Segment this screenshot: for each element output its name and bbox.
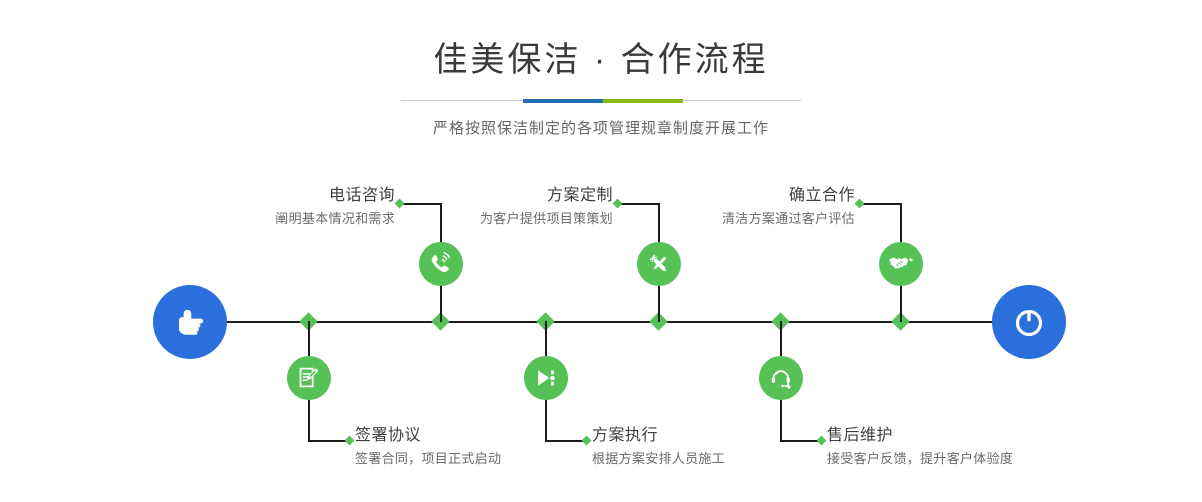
- handshake-icon: [888, 251, 914, 277]
- step-label: 电话咨询 阐明基本情况和需求: [155, 186, 395, 229]
- pencil-plan-icon: [646, 251, 672, 277]
- step-title: 售后维护: [827, 426, 1107, 446]
- step-icon-badge[interactable]: [524, 356, 568, 400]
- power-icon: [1009, 302, 1049, 342]
- connector-bullet: [855, 199, 865, 209]
- page-title: 佳美保洁 · 合作流程: [0, 40, 1202, 81]
- step-icon-badge[interactable]: [759, 356, 803, 400]
- document-sign-icon: [296, 365, 322, 391]
- step-label: 方案执行 根据方案安排人员施工: [592, 426, 852, 469]
- step-desc: 为客户提供项目策策划: [373, 209, 613, 229]
- support-agent-icon: [768, 365, 794, 391]
- divider-green-segment: [603, 99, 683, 103]
- step-label: 签署协议 签署合同，项目正式启动: [355, 426, 615, 469]
- step-label: 售后维护 接受客户反馈，提升客户体验度: [827, 426, 1107, 469]
- step-desc: 根据方案安排人员施工: [592, 449, 852, 469]
- flow-diagram-canvas: 佳美保洁 · 合作流程 严格按照保洁制定的各项管理规章制度开展工作: [0, 0, 1202, 502]
- step-icon-badge[interactable]: [879, 242, 923, 286]
- step-desc: 签署合同，项目正式启动: [355, 449, 615, 469]
- step-title: 确立合作: [615, 186, 855, 206]
- step-desc: 清洁方案通过客户评估: [615, 209, 855, 229]
- step-title: 电话咨询: [155, 186, 395, 206]
- page-subtitle: 严格按照保洁制定的各项管理规章制度开展工作: [0, 117, 1202, 138]
- step-icon-badge[interactable]: [287, 356, 331, 400]
- title-divider: [401, 95, 801, 107]
- step-icon-badge[interactable]: [419, 242, 463, 286]
- step-label: 确立合作 清洁方案通过客户评估: [615, 186, 855, 229]
- step-icon-badge[interactable]: [637, 242, 681, 286]
- step-desc: 接受客户反馈，提升客户体验度: [827, 449, 1107, 469]
- connector-bullet: [345, 436, 355, 446]
- flow-start-node[interactable]: [153, 285, 227, 359]
- pointing-hand-icon: [170, 302, 210, 342]
- step-title: 签署协议: [355, 426, 615, 446]
- divider-blue-segment: [523, 99, 603, 103]
- step-title: 方案定制: [373, 186, 613, 206]
- flow-end-node[interactable]: [992, 285, 1066, 359]
- play-execute-icon: [533, 365, 559, 391]
- step-label: 方案定制 为客户提供项目策策划: [373, 186, 613, 229]
- step-title: 方案执行: [592, 426, 852, 446]
- phone-call-icon: [428, 251, 454, 277]
- page-header: 佳美保洁 · 合作流程 严格按照保洁制定的各项管理规章制度开展工作: [0, 0, 1202, 138]
- connector-horizontal: [860, 203, 902, 205]
- step-desc: 阐明基本情况和需求: [155, 209, 395, 229]
